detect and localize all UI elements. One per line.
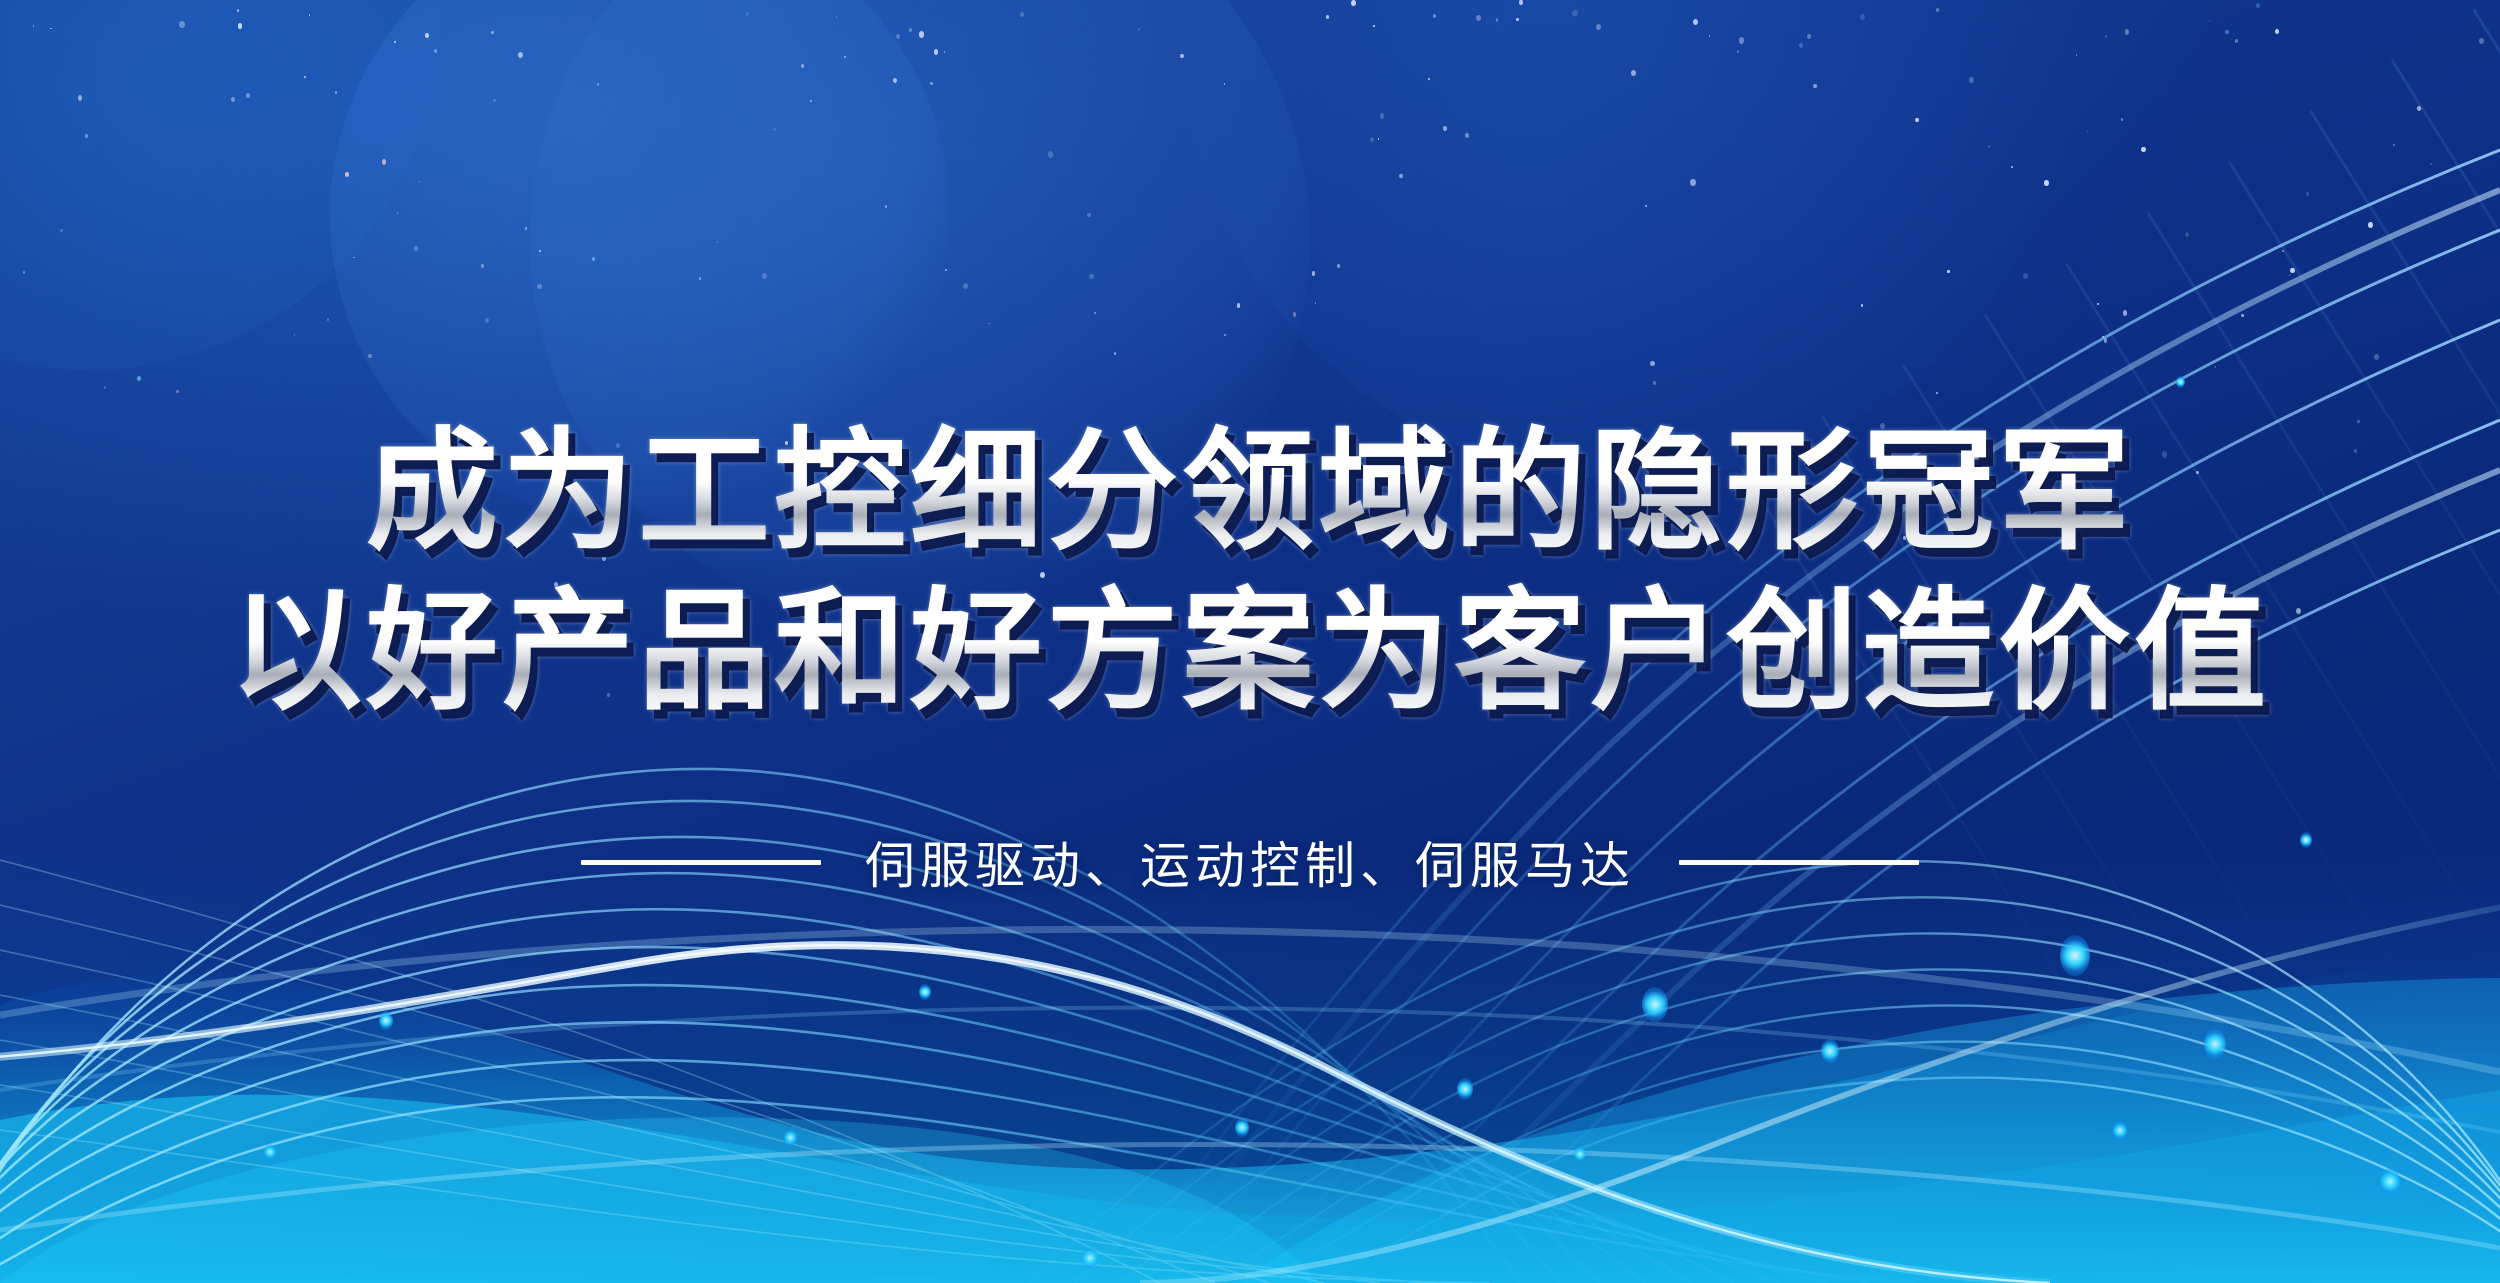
- promo-banner: 成为工控细分领域的隐形冠军 以好产品和好方案为客户创造价值 伺服驱动、运动控制、…: [0, 0, 2500, 1283]
- headline-line-1: 成为工控细分领域的隐形冠军: [0, 412, 2500, 572]
- banner-content: 成为工控细分领域的隐形冠军 以好产品和好方案为客户创造价值 伺服驱动、运动控制、…: [0, 0, 2500, 1283]
- rule-left: [581, 860, 821, 865]
- subtitle-row: 伺服驱动、运动控制、伺服马达: [0, 826, 2500, 898]
- headline-block: 成为工控细分领域的隐形冠军 以好产品和好方案为客户创造价值: [0, 412, 2500, 732]
- headline-line-2: 以好产品和好方案为客户创造价值: [0, 572, 2500, 732]
- subtitle-text: 伺服驱动、运动控制、伺服马达: [865, 826, 1635, 898]
- rule-right: [1679, 860, 1919, 865]
